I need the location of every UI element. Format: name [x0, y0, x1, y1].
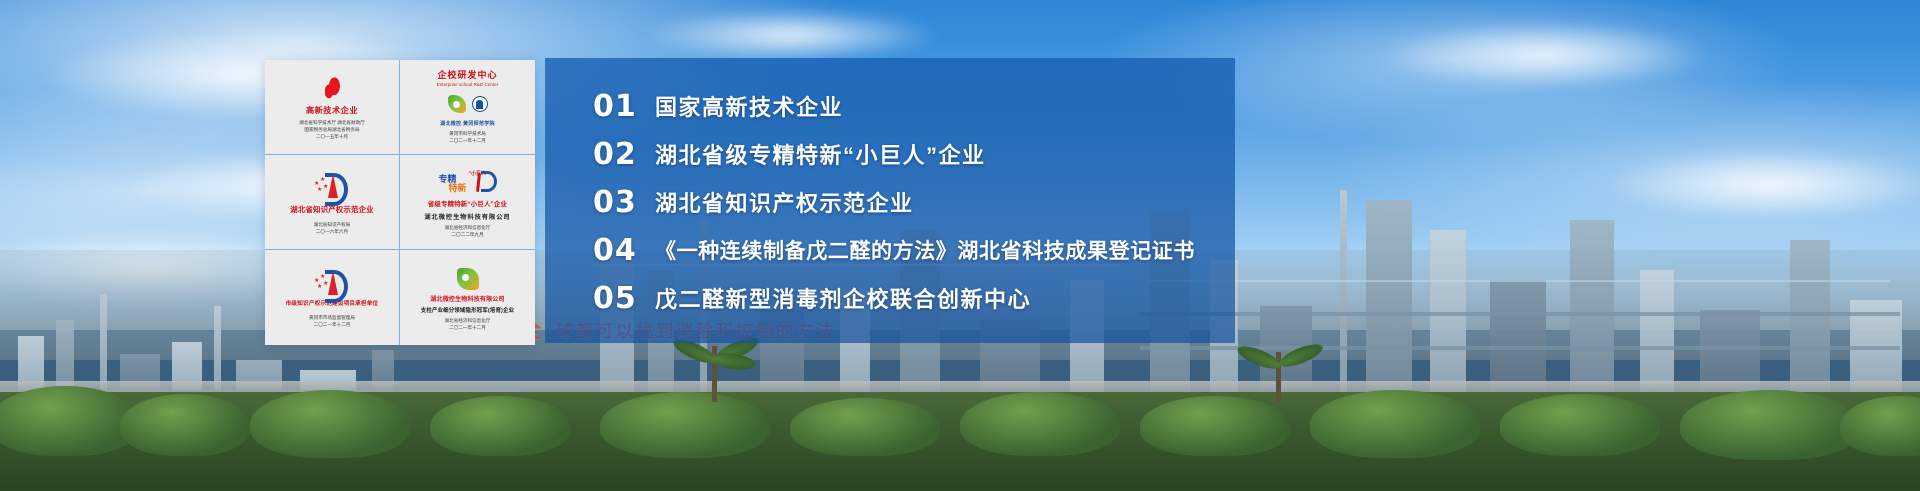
shrub	[250, 390, 410, 458]
shrub	[1680, 390, 1860, 460]
certificate-wall: 高新技术企业 湖北省科学技术厅 湖北省财政厅 国家税务总局湖北省税务局 二〇一五…	[265, 60, 535, 345]
honor-number: 05	[593, 281, 655, 316]
honor-row[interactable]: 05 戊二醛新型消毒剂企校联合创新中心	[593, 274, 1235, 322]
certificate-card[interactable]: 专精 特新 “小巨人” 省级专精特新“小巨人”企业 湖北微控生物科技有限公司 湖…	[400, 155, 535, 250]
certificate-title: 企校研发中心	[437, 70, 497, 81]
blue-sail-stars-icon: ★★★★	[314, 169, 350, 203]
honor-number: 01	[593, 89, 655, 124]
certificate-subtitle: 湖北微控 黄冈师范学院	[440, 120, 495, 127]
plant-pipe	[1140, 312, 1900, 316]
honor-number: 03	[593, 185, 655, 220]
certificate-issuer: 黄冈市科学技术局 二〇二一年十二月	[449, 131, 486, 145]
blue-sail-stars-icon: ★★★★	[314, 267, 350, 299]
certificate-title: 省级专精特新“小巨人”企业	[428, 201, 507, 209]
honor-text: 戊二醛新型消毒剂企校联合创新中心	[655, 282, 1031, 314]
shrub	[1140, 396, 1290, 456]
honor-text: 《一种连续制备戊二醛的方法》湖北省科技成果登记证书	[655, 235, 1195, 265]
certificate-issuer: 湖北省经济和信息化厅 二〇二二年九月	[445, 225, 491, 239]
cloud-shape	[640, 8, 940, 62]
certificate-card[interactable]: 企校研发中心 Enterprise school R&D Center 湖北微控…	[400, 60, 535, 155]
certificate-title-en: Enterprise school R&D Center	[437, 82, 499, 87]
honor-number: 02	[593, 137, 655, 172]
certificate-title: 高新技术企业	[306, 106, 358, 116]
honor-row[interactable]: 03 湖北省知识产权示范企业	[593, 178, 1235, 226]
honor-text: 湖北省知识产权示范企业	[655, 186, 914, 218]
shrub	[600, 392, 770, 458]
shrub	[430, 396, 570, 456]
zhuanjing-texin-icon: 专精 特新 “小巨人”	[439, 167, 497, 197]
leaf-and-shield-icon	[448, 89, 488, 119]
honor-number: 04	[593, 233, 655, 268]
certificate-title: 湖北微控生物科技有限公司	[430, 297, 504, 305]
certificate-issuer: 黄冈市市场监督管理局 二〇二一年十二月	[309, 315, 355, 329]
banner-stage: 全 球都可以找到消除和控制的方法 高新技术企业 湖北省科学技术厅 湖北省财政厅 …	[0, 0, 1920, 491]
cloud-shape	[1380, 20, 1710, 90]
certificate-card[interactable]: ★★★★ 湖北省知识产权示范企业 湖北省知识产权局 二〇一六年六月	[265, 155, 400, 250]
honor-row[interactable]: 01 国家高新技术企业	[593, 82, 1235, 130]
plant-rail	[1150, 280, 1890, 282]
certificate-card[interactable]: 高新技术企业 湖北省科学技术厅 湖北省财政厅 国家税务总局湖北省税务局 二〇一五…	[265, 60, 400, 155]
certificate-subtitle: 支柱产业细分领域隐形冠军(培育)企业	[421, 306, 514, 314]
honor-row[interactable]: 02 湖北省级专精特新“小巨人”企业	[593, 130, 1235, 178]
certificate-issuer: 湖北省知识产权局 二〇一六年六月	[314, 222, 351, 236]
certificate-card[interactable]: ★★★★ 市级知识产权示范建设项目承担单位 黄冈市市场监督管理局 二〇二一年十二…	[265, 250, 400, 345]
red-flame-icon	[322, 74, 342, 104]
shrub	[120, 394, 250, 456]
honor-row[interactable]: 04 《一种连续制备戊二醛的方法》湖北省科技成果登记证书	[593, 226, 1235, 274]
cloud-shape	[1600, 150, 1920, 220]
honor-text: 国家高新技术企业	[655, 90, 843, 122]
honor-text: 湖北省级专精特新“小巨人”企业	[655, 138, 986, 170]
qualification-honors-panel: 01 国家高新技术企业 02 湖北省级专精特新“小巨人”企业 03 湖北省知识产…	[545, 58, 1235, 343]
certificate-issuer: 湖北省经济和信息化厅 二〇二一年十二月	[445, 318, 491, 332]
shrub	[960, 392, 1120, 456]
certificate-title: 湖北省知识产权示范企业	[290, 205, 374, 214]
certificate-subtitle: 湖北微控生物科技有限公司	[424, 212, 510, 221]
shrub	[1310, 390, 1480, 458]
certificate-issuer: 湖北省科学技术厅 湖北省财政厅 国家税务总局湖北省税务局 二〇一五年十月	[299, 120, 365, 141]
certificate-card[interactable]: 湖北微控生物科技有限公司 支柱产业细分领域隐形冠军(培育)企业 湖北省经济和信息…	[400, 250, 535, 345]
shrub	[0, 386, 140, 456]
shrub	[790, 398, 940, 456]
leaf-icon	[457, 264, 479, 294]
shrub	[1500, 394, 1660, 456]
